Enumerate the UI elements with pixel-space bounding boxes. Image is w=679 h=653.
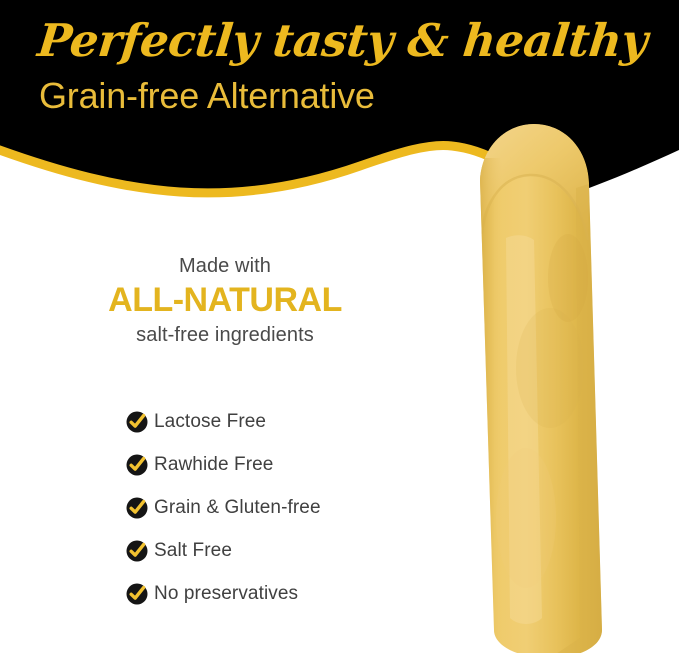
product-top-face (480, 124, 589, 238)
feature-list: Lactose Free Rawhide Free Grain & Gluten… (126, 400, 426, 615)
list-item: Rawhide Free (126, 443, 426, 486)
product-infographic: Perfectly tasty & healthy Grain-free Alt… (0, 0, 679, 653)
product-top-crease (482, 175, 588, 240)
list-item: Lactose Free (126, 400, 426, 443)
feature-label: Grain & Gluten-free (154, 497, 321, 519)
check-circle-icon (126, 583, 148, 605)
check-circle-icon (126, 411, 148, 433)
made-with-label: Made with (62, 253, 388, 279)
feature-label: Rawhide Free (154, 454, 273, 476)
feature-label: Lactose Free (154, 411, 266, 433)
product-right-facet (550, 184, 602, 653)
product-mottle-2 (496, 448, 556, 588)
header-text-group: Perfectly tasty & healthy Grain-free Alt… (0, 0, 679, 130)
check-circle-icon (126, 454, 148, 476)
page-title-script: Perfectly tasty & healthy (35, 12, 641, 70)
feature-label: No preservatives (154, 583, 298, 605)
check-circle-icon (126, 540, 148, 562)
list-item: No preservatives (126, 572, 426, 615)
product-body (480, 124, 602, 653)
product-mottle-3 (548, 234, 588, 322)
list-item: Grain & Gluten-free (126, 486, 426, 529)
check-circle-icon (126, 497, 148, 519)
cheese-stick-product-photo (430, 118, 630, 653)
salt-free-ingredients-label: salt-free ingredients (62, 321, 388, 349)
feature-label: Salt Free (154, 540, 232, 562)
header-gold-wave-stroke (0, 145, 500, 193)
product-mottle-1 (516, 308, 584, 428)
page-subtitle: Grain-free Alternative (39, 74, 375, 118)
product-left-edge-shade (480, 158, 502, 653)
product-highlight (506, 235, 542, 624)
list-item: Salt Free (126, 529, 426, 572)
made-with-block: Made with ALL-NATURAL salt-free ingredie… (62, 253, 388, 349)
all-natural-headline: ALL-NATURAL (62, 279, 388, 321)
